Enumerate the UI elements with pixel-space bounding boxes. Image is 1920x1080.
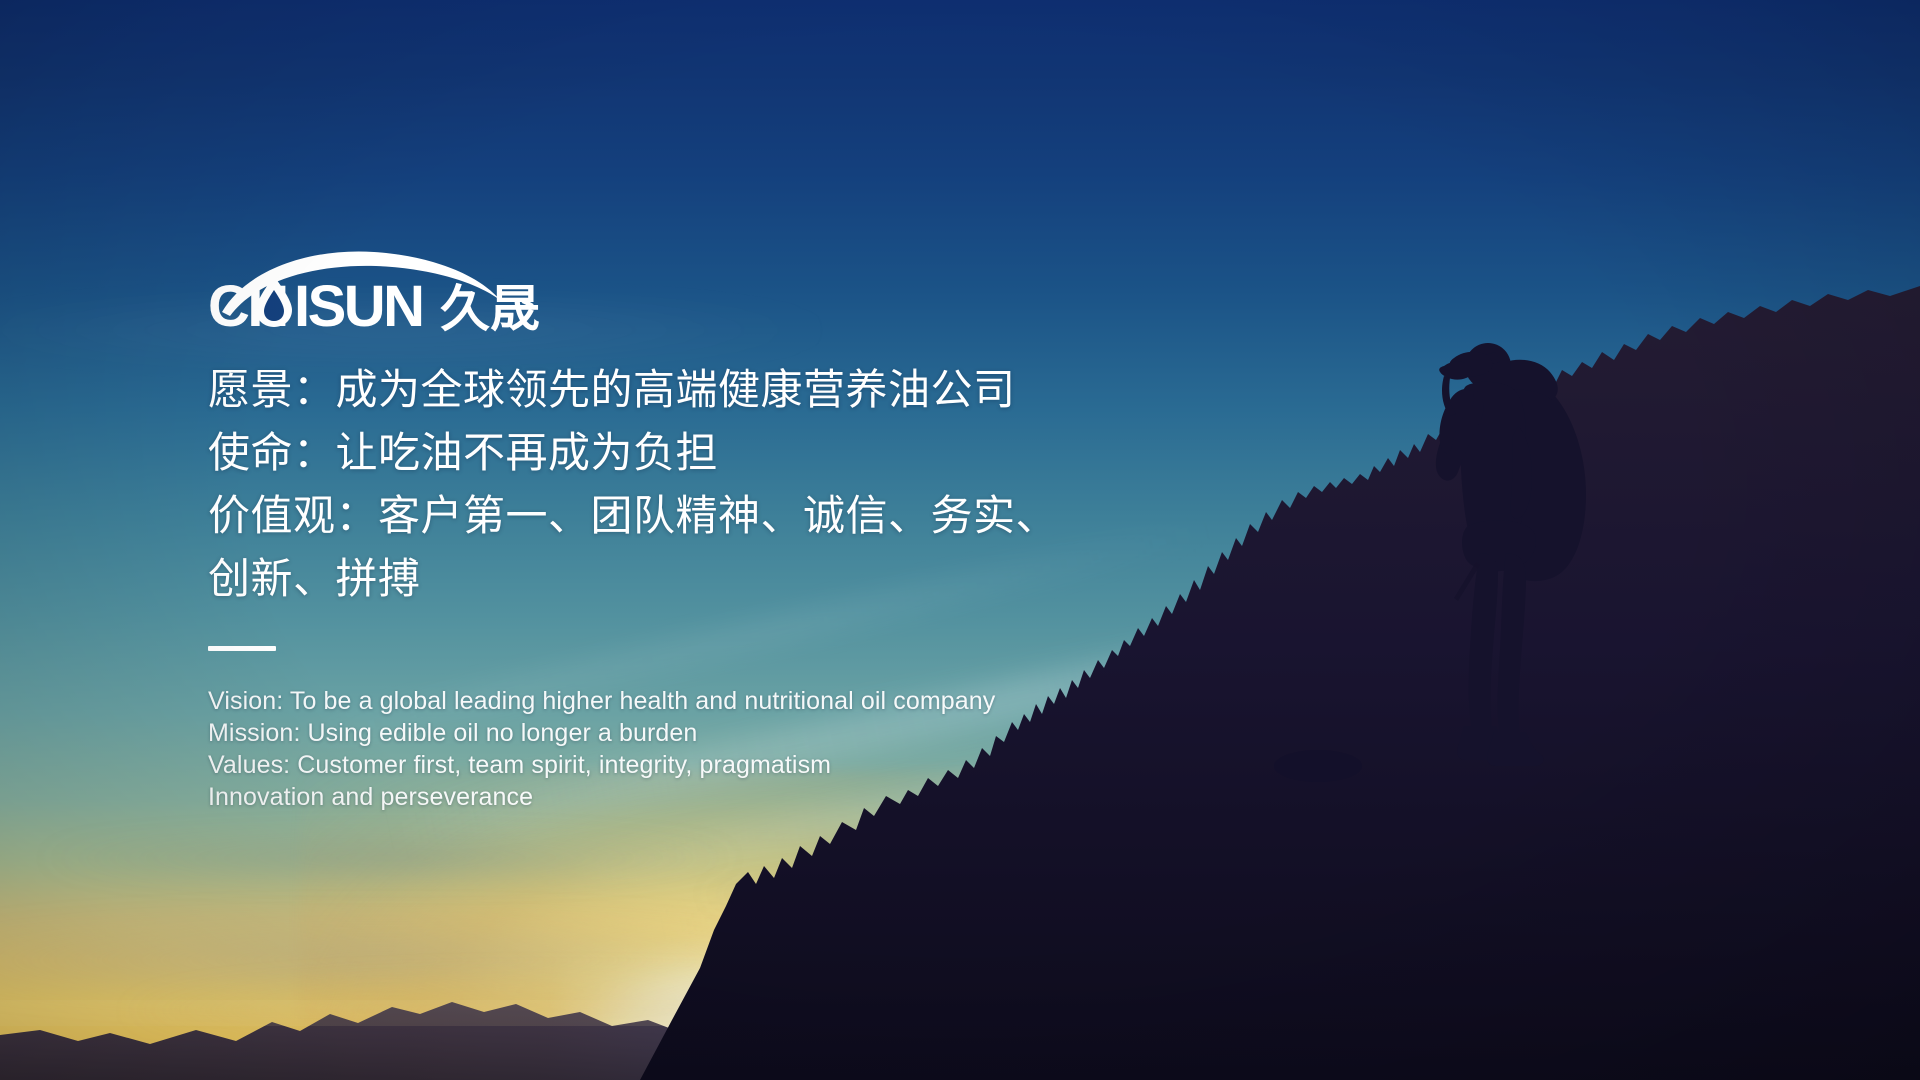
- values-line-en: Values: Customer first, team spirit, int…: [208, 749, 1208, 781]
- brand-logo[interactable]: CH ISUN 久晟: [208, 246, 548, 332]
- values-line-en-cont: Innovation and perseverance: [208, 781, 1208, 813]
- vision-line-en: Vision: To be a global leading higher he…: [208, 685, 1208, 717]
- values-line-cn-cont: 创新、拼搏: [208, 547, 1088, 610]
- values-line-cn: 价值观：客户第一、团队精神、诚信、务实、: [208, 484, 1088, 547]
- mission-line-en: Mission: Using edible oil no longer a bu…: [208, 717, 1208, 749]
- section-divider: [208, 646, 276, 651]
- svg-text:ISUN: ISUN: [294, 274, 423, 332]
- mission-line-cn: 使命：让吃油不再成为负担: [208, 421, 1088, 484]
- brand-wordmark: CH ISUN: [208, 274, 423, 332]
- english-statement: Vision: To be a global leading higher he…: [208, 685, 1208, 813]
- content-block: CH ISUN 久晟 愿景：成为全球领先的高端健康营养油公司 使命：让吃油不再成…: [208, 246, 1208, 813]
- chinese-statement: 愿景：成为全球领先的高端健康营养油公司 使命：让吃油不再成为负担 价值观：客户第…: [208, 358, 1088, 610]
- slide-canvas: CH ISUN 久晟 愿景：成为全球领先的高端健康营养油公司 使命：让吃油不再成…: [0, 0, 1920, 1080]
- vision-line-cn: 愿景：成为全球领先的高端健康营养油公司: [208, 358, 1088, 421]
- brand-cjk-mark: 久晟: [440, 280, 540, 332]
